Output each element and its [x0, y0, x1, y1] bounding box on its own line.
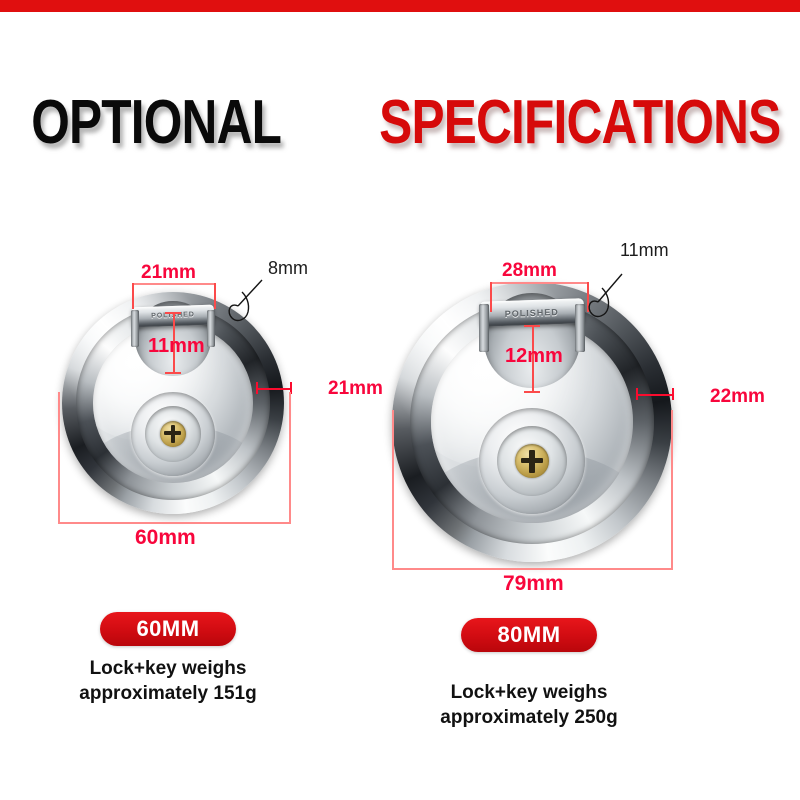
dim-tick-thickness-outer-80mm [672, 388, 674, 400]
weight-caption-60mm: Lock+key weighs approximately 151g [46, 656, 290, 706]
dim-ext-left-60mm [58, 392, 60, 524]
leader-line-shackle-thickness-60mm [190, 278, 270, 330]
dim-tick-left-shackle-80mm [490, 282, 492, 312]
shackle-leg-left-80mm [479, 304, 489, 352]
size-badge-80mm[interactable]: 80MM [461, 618, 597, 652]
dim-label-shackle-width-60mm: 21mm [141, 262, 196, 284]
dim-tick-thickness-inner-80mm [636, 388, 638, 400]
product-figure-80mm: POLISHED 28mm 11mm 12mm 22mm 79mm [380, 0, 800, 640]
dim-ext-left-80mm [392, 410, 394, 570]
dim-line-diameter-80mm [392, 568, 672, 570]
keyway-slot-horizontal [164, 431, 181, 435]
dim-arrow-body-thickness-80mm [636, 394, 674, 396]
padlock-illustration-80mm: POLISHED [392, 282, 672, 562]
dim-tick-thickness-inner-60mm [256, 382, 258, 394]
dim-label-clearance-80mm: 12mm [505, 345, 563, 368]
dim-label-shackle-thickness-80mm: 11mm [620, 240, 669, 261]
weight-caption-80mm: Lock+key weighs approximately 250g [407, 680, 651, 730]
dim-label-clearance-60mm: 11mm [148, 335, 205, 358]
dim-line-diameter-60mm [58, 522, 290, 524]
dim-tick-top-clearance-80mm [524, 325, 540, 327]
dim-label-body-thickness-80mm: 22mm [710, 386, 765, 408]
dim-label-diameter-80mm: 79mm [503, 572, 564, 596]
shackle-leg-left-60mm [131, 310, 139, 348]
dim-label-diameter-60mm: 60mm [135, 526, 196, 550]
dim-tick-left-shackle-60mm [132, 283, 134, 309]
dim-ext-right-60mm [289, 392, 291, 524]
dim-arrow-body-thickness-60mm [256, 388, 292, 390]
key-cylinder [515, 444, 549, 478]
product-figure-60mm: POLISHED 21mm 8mm 11mm 21mm 60mm [0, 0, 400, 600]
dim-tick-bottom-clearance-60mm [165, 372, 181, 374]
dim-label-body-thickness-60mm: 21mm [328, 378, 383, 400]
product-spec-page: OPTIONAL SPECIFICATIONS POLISHED [0, 0, 800, 800]
dim-tick-top-clearance-60mm [165, 312, 181, 314]
dim-label-shackle-thickness-60mm: 8mm [268, 258, 308, 279]
leader-line-shackle-thickness-80mm [548, 272, 630, 328]
dim-ext-right-80mm [671, 410, 673, 570]
keyway-slot-horizontal [521, 458, 543, 463]
size-badge-60mm[interactable]: 60MM [100, 612, 236, 646]
dim-tick-bottom-clearance-80mm [524, 391, 540, 393]
